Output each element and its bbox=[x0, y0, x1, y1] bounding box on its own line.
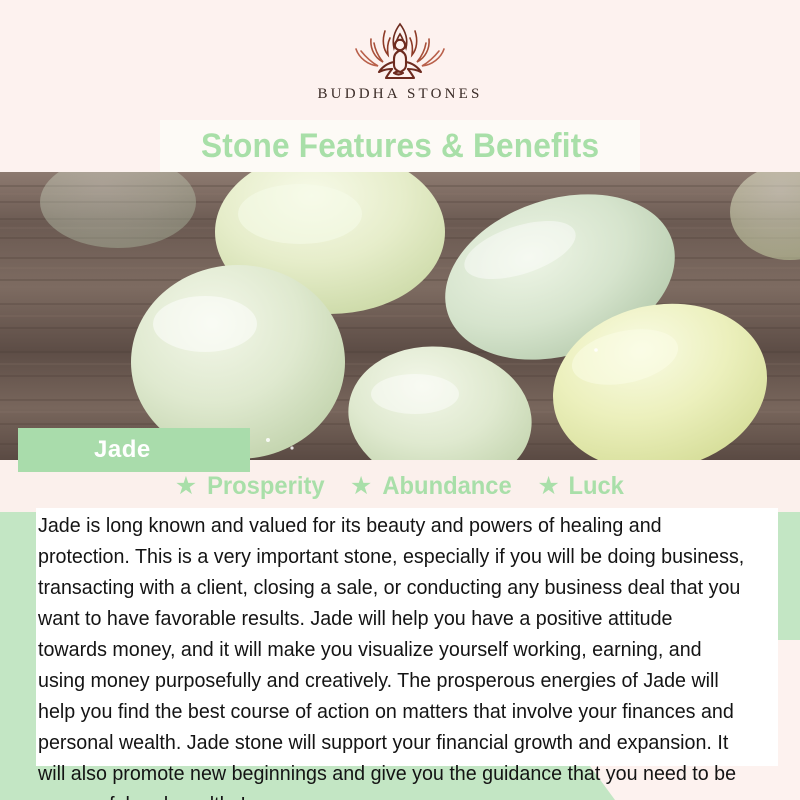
title-banner: Stone Features & Benefits bbox=[160, 120, 640, 172]
star-icon: ★ bbox=[350, 474, 372, 499]
keyword-label: Prosperity bbox=[207, 472, 324, 501]
stone-name-banner: Jade bbox=[18, 428, 250, 472]
keyword-label: Abundance bbox=[383, 472, 512, 501]
jade-stones-illustration bbox=[0, 172, 800, 460]
star-icon: ★ bbox=[175, 474, 197, 499]
keyword-prosperity: ★ Prosperity bbox=[175, 472, 328, 501]
stone-name: Jade bbox=[94, 436, 151, 464]
page-title: Stone Features & Benefits bbox=[201, 127, 599, 166]
keyword-label: Luck bbox=[568, 472, 623, 501]
brand-name: BUDDHA STONES bbox=[0, 86, 800, 103]
star-icon: ★ bbox=[537, 474, 559, 499]
description-block: Jade is long known and valued for its be… bbox=[36, 508, 778, 766]
brand-logo: BUDDHA STONES bbox=[0, 18, 800, 103]
keyword-abundance: ★ Abundance bbox=[350, 472, 516, 501]
jade-stones-photo bbox=[0, 172, 800, 460]
infographic-page: BUDDHA STONES Stone Features & Benefits bbox=[0, 0, 800, 800]
description-text: Jade is long known and valued for its be… bbox=[38, 510, 745, 800]
keyword-luck: ★ Luck bbox=[537, 472, 625, 501]
lotus-meditation-icon bbox=[340, 18, 460, 84]
